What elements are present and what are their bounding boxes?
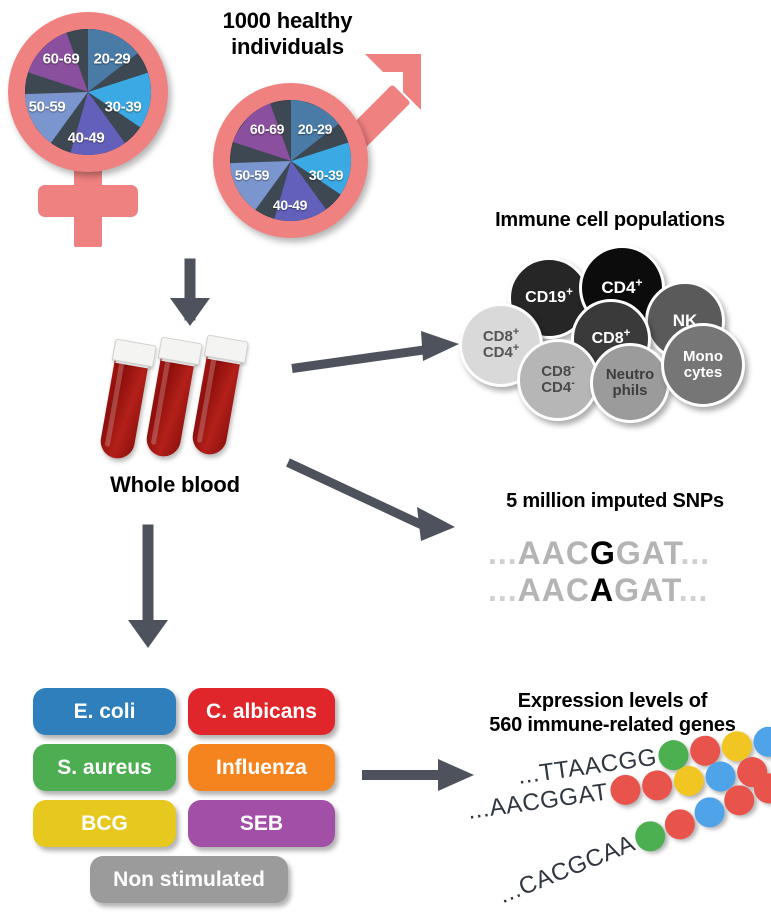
blood-tubes-group [100,335,280,475]
snp-sequence-row-1: ...AACGGAT... [488,535,710,572]
pie-label-30-39: 30-39 [105,99,142,116]
arrow-blood-to-snps-shaft [286,458,426,530]
cell-label-dp: CD8+ CD4+ [483,329,519,360]
male-symbol: 20-29 30-39 40-49 50-59 60-69 [205,55,425,250]
immune-cells-group: CD19+ CD4+ NK CD8+ CD8+ CD4+ CD8- [455,245,765,425]
arrow-cohort-to-blood-head [168,296,212,328]
expression-heading-line1: Expression levels of [455,690,770,714]
stimulus-seb[interactable]: SEB [188,800,335,847]
pie-label-60-69: 60-69 [250,121,284,137]
pie-label-50-59: 50-59 [29,99,66,116]
pie-label-20-29: 20-29 [94,51,131,68]
male-arrow-head [345,50,425,130]
figure-canvas: 1000 healthy individuals 20-29 30-39 40-… [0,0,771,922]
whole-blood-label: Whole blood [70,472,280,498]
snp-variant: G [590,535,616,571]
snps-heading: 5 million imputed SNPs [460,490,770,514]
snp-right: GAT [616,535,681,571]
arrow-stimuli-to-expression-head [436,757,476,793]
cell-monocytes: Mono cytes [661,323,745,407]
stimulus-e-coli[interactable]: E. coli [33,688,176,735]
snp-variant: A [590,572,614,608]
cell-label-monocytes: Mono cytes [683,349,723,380]
snp-sequence-row-2: ...AACAGAT... [488,572,708,609]
arrow-blood-to-stimuli-shaft [143,525,154,630]
cell-label-cd19: CD19+ [525,290,573,307]
snp-prefix: ... [488,572,518,608]
cell-label-neutrophils: Neutro phils [606,367,654,398]
arrow-blood-to-immune-shaft [291,345,429,373]
pie-label-30-39: 30-39 [309,167,343,183]
cell-neutrophils: Neutro phils [590,343,670,423]
cell-label-dn: CD8- CD4- [541,364,575,395]
stimulus-influenza[interactable]: Influenza [188,744,335,791]
immune-heading: Immune cell populations [450,209,770,233]
stimulus-c-albicans[interactable]: C. albicans [188,688,335,735]
arrow-stimuli-to-expression-shaft [362,770,442,780]
cell-cd8-cd4-double-negative: CD8- CD4- [517,339,599,421]
female-symbol: 20-29 30-39 40-49 50-59 60-69 [8,12,188,242]
snp-left: AAC [518,572,590,608]
strand-bead [640,769,674,803]
pie-label-20-29: 20-29 [298,121,332,137]
snp-suffix: ... [681,535,711,571]
pie-label-40-49: 40-49 [68,130,105,147]
pie-label-40-49: 40-49 [273,197,307,213]
stimulus-s-aureus[interactable]: S. aureus [33,744,176,791]
strand-sequence-3: ...CACGCAA [495,830,640,910]
arrow-blood-to-snps-head [415,505,459,545]
snp-suffix: ... [679,572,709,608]
arrow-blood-to-stimuli-head [126,618,170,650]
stimulus-non-stimulated[interactable]: Non stimulated [90,856,288,903]
pie-label-50-59: 50-59 [235,167,269,183]
snp-prefix: ... [488,535,518,571]
stimulus-bcg[interactable]: BCG [33,800,176,847]
strand-sequence-2: ...AACGGAT [466,778,610,825]
pie-label-60-69: 60-69 [43,51,80,68]
strand-bead [671,764,705,798]
cohort-heading-line1: 1000 healthy [185,8,390,34]
snp-left: AAC [518,535,590,571]
blood-tube [98,339,152,461]
strand-bead [608,773,642,807]
cell-label-cd4: CD4+ [601,279,642,297]
female-crossbar [38,185,138,217]
snp-right: GAT [614,572,679,608]
